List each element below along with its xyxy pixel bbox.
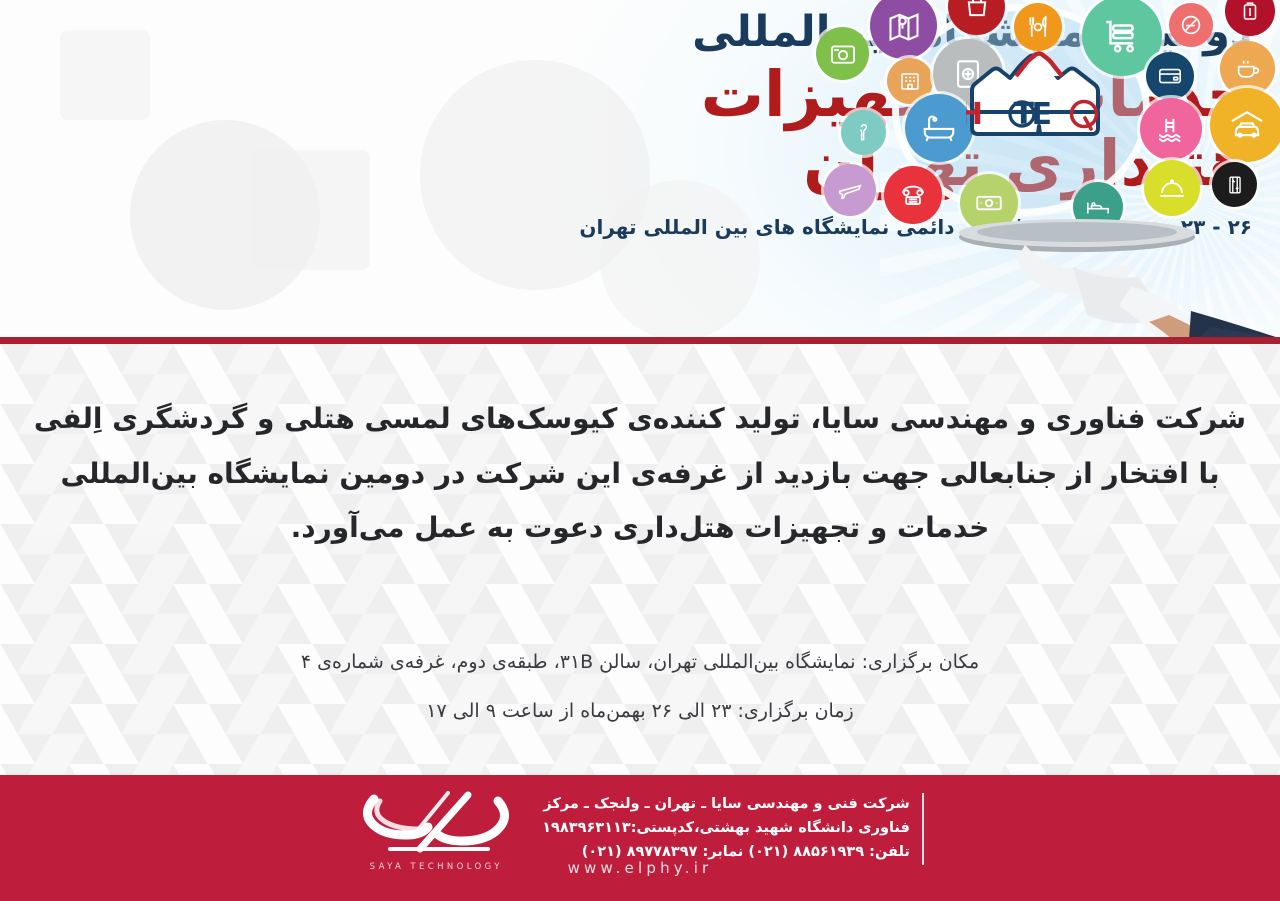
elevator-icon [1212, 162, 1257, 207]
waiter-tray-illustration [955, 215, 1280, 337]
airplane-icon [824, 164, 876, 216]
contact-line-address1: شرکت فنی و مهندسی سایا ـ تهران ـ ولنجک ـ… [542, 793, 910, 817]
cutlery-icon [1014, 3, 1062, 51]
event-details: مکان برگزاری: نمایشگاه بین‌المللی تهران،… [0, 638, 1280, 737]
hoteq-logo: H T E [966, 46, 1112, 150]
invite-text-line-1: شرکت فناوری و مهندسی سایا، تولید کننده‌ی… [0, 392, 1280, 447]
banner-divider [0, 337, 1280, 344]
watermark-shape [60, 30, 150, 120]
telephone-icon [884, 166, 942, 224]
event-time-line: زمان برگزاری: ۲۳ الی ۲۶ بهمن‌ماه از ساعت… [0, 687, 1280, 736]
invite-text-line-2: با افتخار از جنابعالی جهت بازدید از غرفه… [0, 447, 1280, 502]
contact-line-address2: فناوری دانشگاه شهید بهشتی،کدپستی:۱۹۸۳۹۶۳… [542, 817, 910, 841]
website-url[interactable]: www.elphy.ir [0, 859, 1280, 877]
invitation-body: شرکت فناوری و مهندسی سایا، تولید کننده‌ی… [0, 344, 1280, 775]
door-hanger-icon [841, 110, 886, 155]
suitcase-icon [1225, 0, 1275, 36]
credit-card-icon [1146, 52, 1194, 100]
svg-text:H: H [966, 97, 983, 132]
car-parking-icon [1210, 88, 1280, 162]
page-footer: شرکت فنی و مهندسی سایا ـ تهران ـ ولنجک ـ… [0, 775, 1280, 901]
bathtub-icon [905, 94, 973, 162]
company-contact-block: شرکت فنی و مهندسی سایا ـ تهران ـ ولنجک ـ… [542, 793, 924, 865]
watermark-shape [250, 150, 370, 270]
swimming-pool-icon [1140, 98, 1202, 160]
service-icon-cluster: H T E [800, 0, 1280, 244]
svg-text:E: E [1032, 97, 1053, 132]
room-service-dome-icon [1144, 160, 1200, 216]
invitation-page: دومین نمایشگاه بین‌المللی خدمات و تجهیزا… [0, 0, 1280, 901]
no-smoking-icon [1169, 3, 1213, 47]
invite-text-line-3: خدمات و تجهیزات هتل‌داری دعوت به عمل می‌… [0, 501, 1280, 556]
event-banner: دومین نمایشگاه بین‌المللی خدمات و تجهیزا… [0, 0, 1280, 337]
camera-icon [816, 27, 869, 80]
event-venue-line: مکان برگزاری: نمایشگاه بین‌المللی تهران،… [0, 638, 1280, 687]
